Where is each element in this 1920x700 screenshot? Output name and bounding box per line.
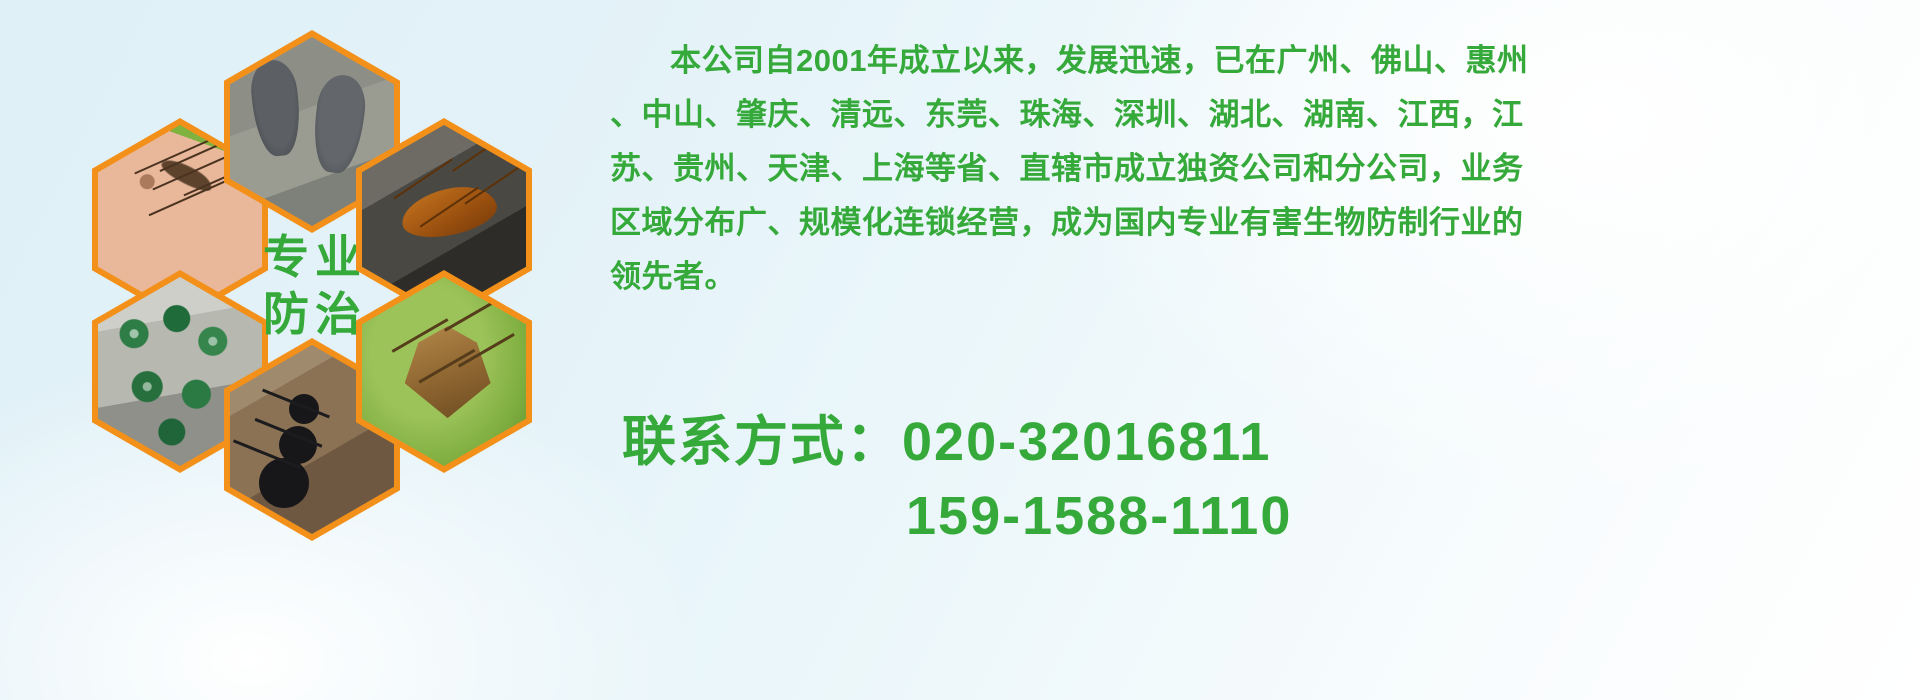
stink-bug-photo — [362, 277, 526, 466]
intro-line-1: 本公司自2001年成立以来，发展迅速，已在广州、佛山、惠州 — [610, 34, 1900, 88]
promo-banner: 专业 防治 本公司自2001年成立以来，发展迅速，已在广州、佛山、惠州 、中山、… — [0, 0, 1920, 700]
intro-line-4: 区域分布广、规模化连锁经营，成为国内专业有害生物防制行业的 — [610, 196, 1900, 250]
company-intro-text: 本公司自2001年成立以来，发展迅速，已在广州、佛山、惠州 、中山、肇庆、清远、… — [610, 34, 1910, 304]
hex-label-line-2: 防治 — [257, 286, 367, 342]
intro-line-2: 、中山、肇庆、清远、东莞、珠海、深圳、湖北、湖南、江西，江 — [610, 88, 1900, 142]
intro-line-3: 苏、贵州、天津、上海等省、直辖市成立独资公司和分公司，业务 — [610, 142, 1900, 196]
hexagon-photo-cluster: 专业 防治 — [92, 8, 592, 568]
contact-phone-primary[interactable]: 联系方式：020-32016811 — [622, 405, 1920, 479]
contact-block: 联系方式：020-32016811 159-1588-1110 — [622, 405, 1920, 553]
stink-bug-icon — [362, 277, 526, 466]
intro-line-5: 领先者。 — [610, 250, 1900, 304]
contact-phone-secondary[interactable]: 159-1588-1110 — [622, 479, 1920, 553]
hex-label-line-1: 专业 — [257, 229, 367, 285]
